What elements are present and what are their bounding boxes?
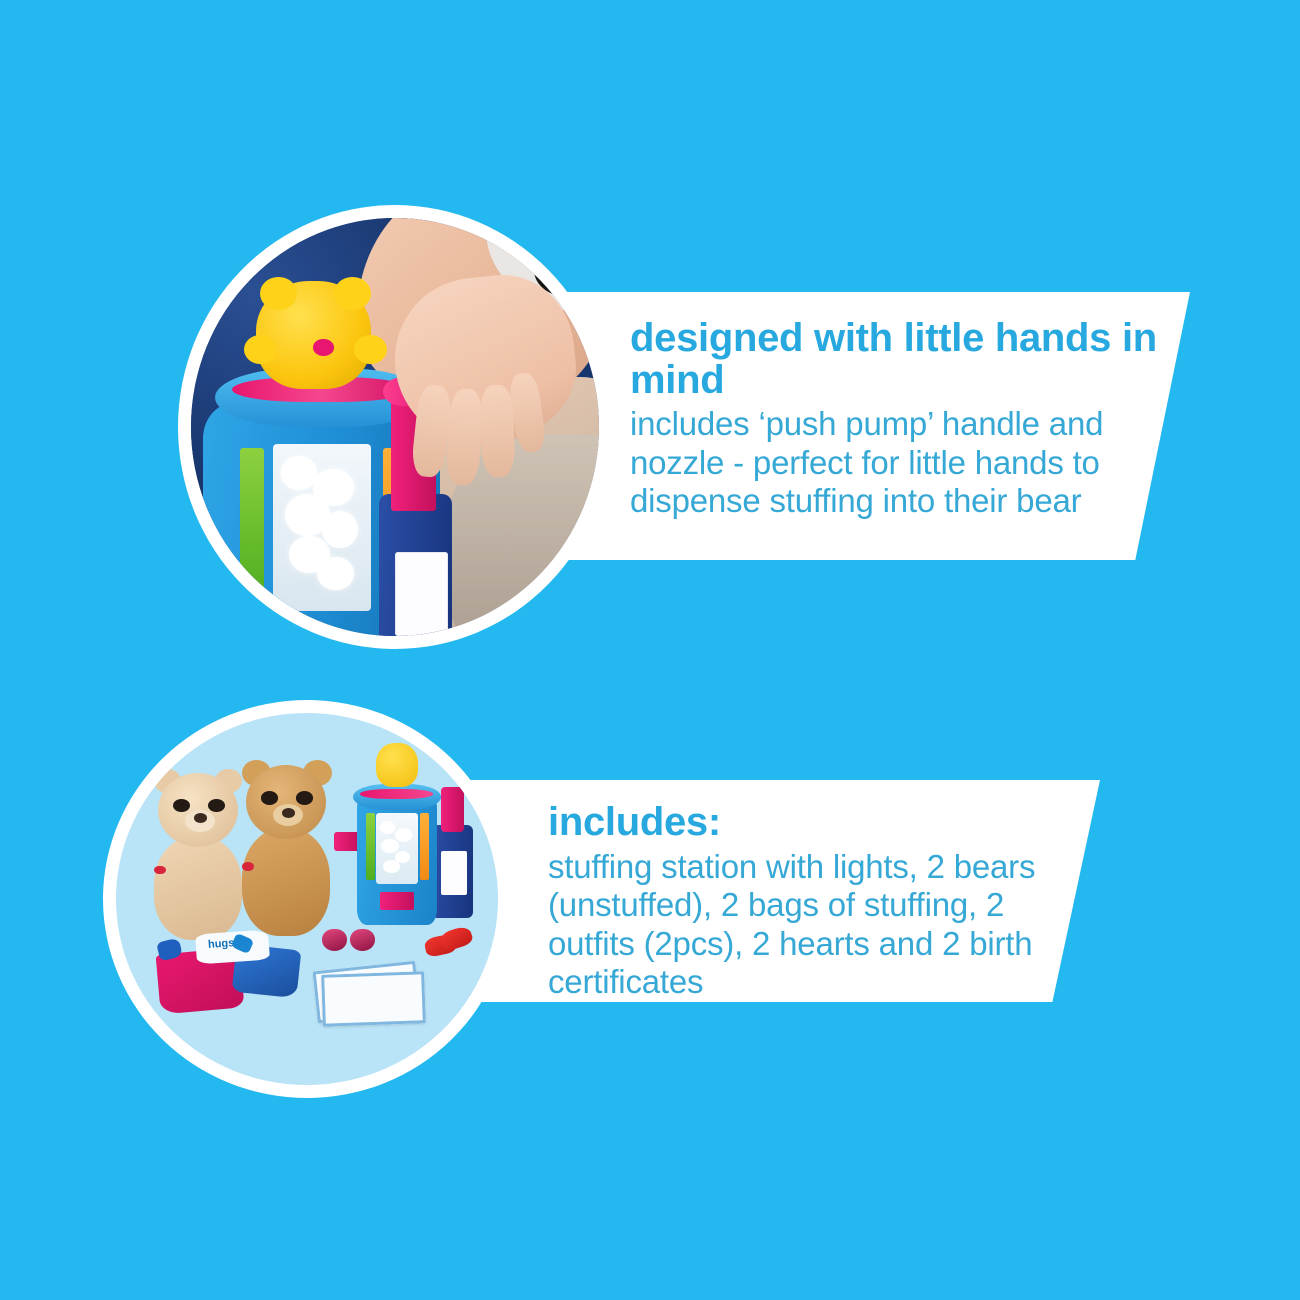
brown-teddy-bear bbox=[242, 828, 330, 936]
star-sticker-label bbox=[441, 851, 468, 896]
pink-heart-sunglasses bbox=[322, 929, 375, 951]
teddy-foot bbox=[116, 713, 147, 735]
stuffing-fluff bbox=[317, 557, 354, 590]
birth-certificate bbox=[321, 972, 426, 1028]
teddy-ear-icon bbox=[260, 277, 297, 310]
teddy-ear-icon bbox=[334, 277, 371, 310]
poster-canvas: designed with little hands in mind inclu… bbox=[0, 0, 1300, 1300]
stuffing-fluff bbox=[322, 511, 359, 549]
star-sticker-label bbox=[395, 552, 448, 636]
feature-photo-includes: hugs bbox=[103, 700, 511, 1098]
heart-icon bbox=[154, 866, 165, 875]
green-light-strip bbox=[366, 813, 375, 880]
teddy-foot bbox=[116, 780, 147, 802]
feature-photo-little-hands bbox=[178, 205, 612, 649]
feature-headline-little-hands: designed with little hands in mind bbox=[630, 318, 1190, 401]
green-light-strip bbox=[240, 448, 264, 598]
teddy-foot bbox=[116, 758, 147, 780]
eye-icon bbox=[261, 791, 278, 804]
pink-lid-ring bbox=[360, 789, 433, 799]
heart-icon bbox=[313, 339, 333, 356]
station-door bbox=[380, 892, 414, 911]
teddy-foot bbox=[116, 735, 147, 757]
light-tan-teddy-bear bbox=[154, 836, 242, 940]
stuffing-fluff bbox=[381, 839, 399, 852]
feature-body-includes: stuffing station with lights, 2 bears (u… bbox=[548, 848, 1068, 1002]
stuffing-fluff bbox=[281, 456, 318, 489]
scene-product-flatlay: hugs bbox=[116, 713, 498, 1085]
orange-light-strip bbox=[420, 813, 429, 880]
sunglasses-lens bbox=[350, 929, 375, 951]
stuffing-fluff bbox=[380, 821, 395, 834]
photo-crop-circle bbox=[191, 218, 599, 636]
feature-headline-includes: includes: bbox=[548, 802, 1100, 844]
pink-push-pump-handle bbox=[441, 787, 464, 832]
sunglasses-lens bbox=[322, 929, 347, 951]
nose-icon bbox=[194, 813, 207, 823]
finger bbox=[479, 385, 515, 478]
scene-hands-and-station bbox=[191, 218, 599, 636]
heart-icon bbox=[242, 862, 253, 871]
photo-crop-circle: hugs bbox=[116, 713, 498, 1085]
stuffing-fluff bbox=[395, 828, 412, 841]
teddy-head bbox=[246, 765, 326, 839]
teddy-arm-icon bbox=[244, 335, 277, 364]
eye-icon bbox=[208, 799, 225, 812]
stuffing-fluff bbox=[383, 860, 400, 873]
outfit-brand-text: hugs bbox=[207, 937, 234, 951]
feature-body-little-hands: includes ‘push pump’ handle and nozzle -… bbox=[630, 405, 1150, 521]
teddy-arm-icon bbox=[354, 335, 387, 364]
nose-icon bbox=[282, 808, 295, 818]
yellow-teddy-topper bbox=[376, 743, 418, 788]
red-shoe bbox=[439, 924, 474, 951]
eye-icon bbox=[296, 791, 313, 804]
